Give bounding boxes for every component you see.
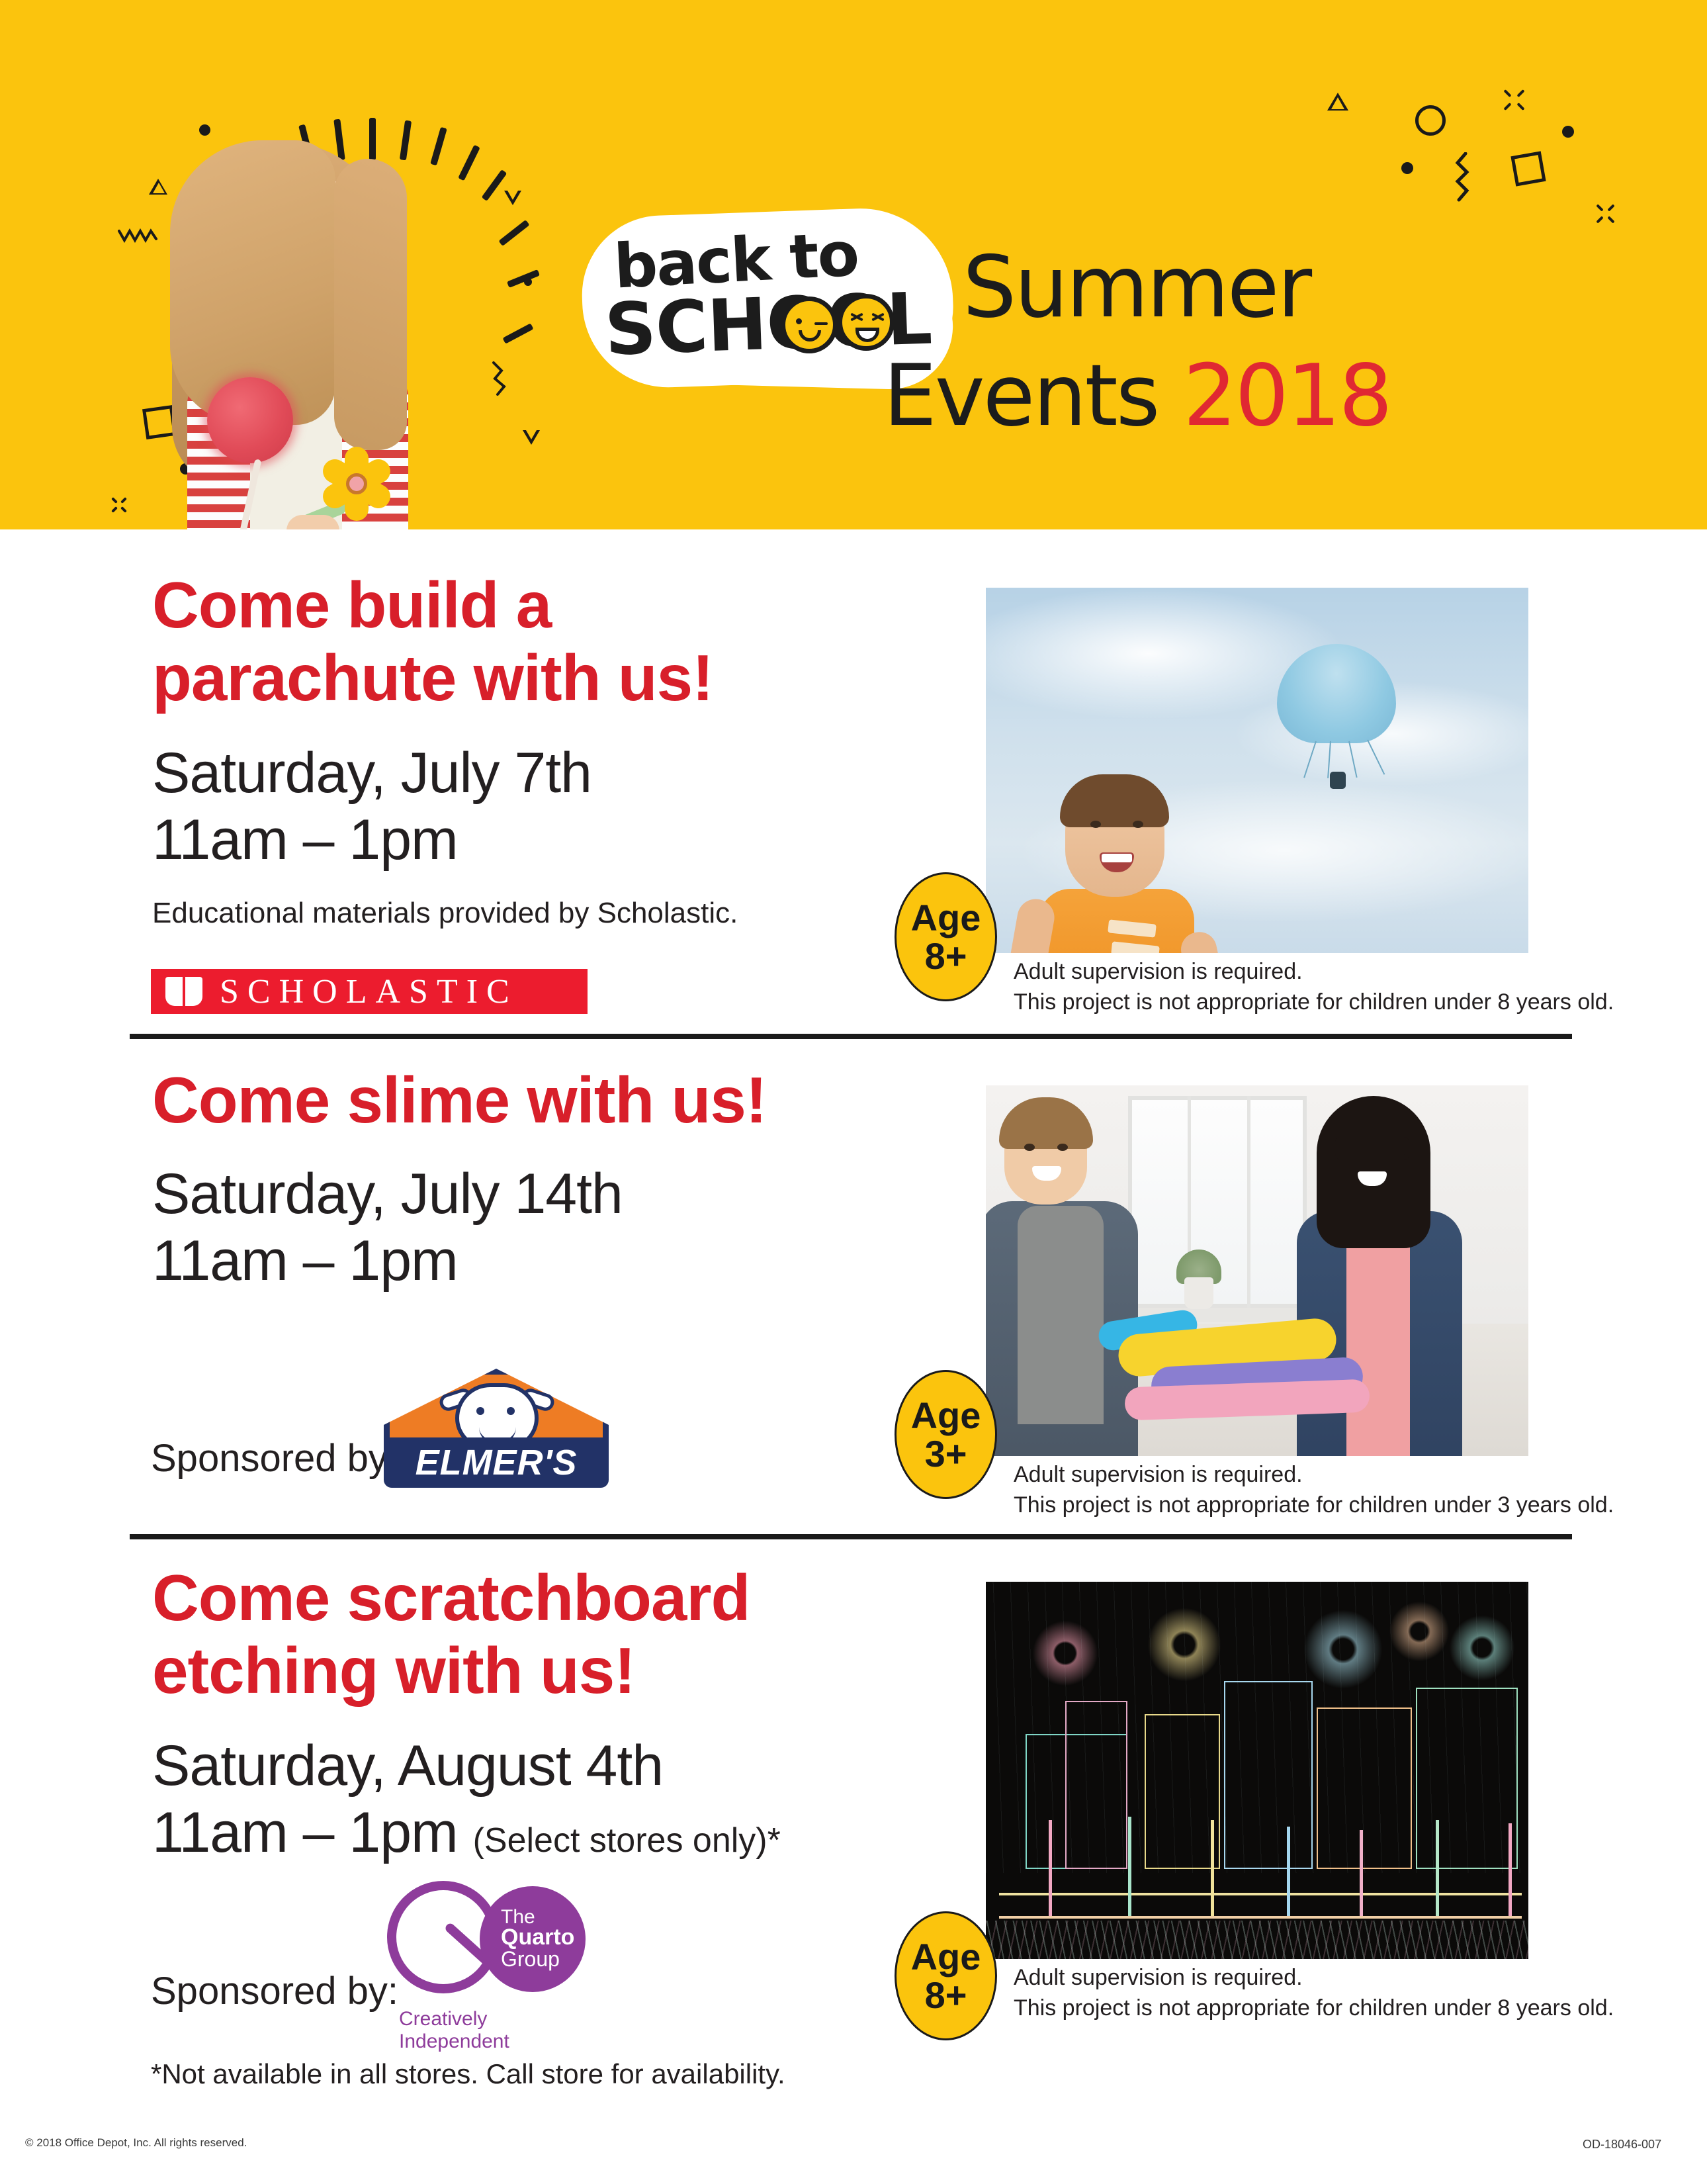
water-scratch	[986, 1921, 1528, 1959]
event-disclaimer: Adult supervision is required. This proj…	[1014, 1460, 1614, 1520]
elmers-wordmark: ELMER'S	[416, 1442, 578, 1483]
square-doodle-icon	[1510, 151, 1546, 186]
girl-with-pom-pom-pen-photo	[136, 93, 453, 529]
quarto-text-group: Group	[501, 1947, 560, 1972]
triangle-doodle-icon	[1331, 97, 1344, 109]
event-time: 11am – 1pm	[152, 1228, 767, 1295]
copyright-text: © 2018 Office Depot, Inc. All rights res…	[25, 2136, 247, 2150]
header-title-line-1: Summer	[963, 245, 1310, 332]
age-label: Age	[911, 899, 981, 936]
header-title-events: Events	[883, 347, 1158, 445]
section-divider	[130, 1034, 1572, 1039]
event-photo	[986, 1085, 1528, 1456]
sponsored-by-label: Sponsored by:	[151, 1436, 398, 1480]
laughing-emoji-icon	[838, 294, 895, 351]
colorful-slime	[1098, 1304, 1376, 1430]
age-badge: Age 3+	[895, 1370, 997, 1499]
sponsored-by-label: Sponsored by:	[151, 1969, 398, 2013]
ray-doodle-icon	[507, 269, 540, 288]
poster-page: back to SCHOOL Summer Events 2018 Co	[0, 0, 1707, 2184]
event-time: 11am – 1pm	[152, 807, 738, 874]
eyeglasses-icon	[1335, 1137, 1409, 1160]
event-photo	[986, 588, 1528, 953]
availability-note: *Not available in all stores. Call store…	[151, 2058, 785, 2090]
quarto-tagline: Creatively Independent	[399, 2008, 599, 2053]
event-date: Saturday, July 7th	[152, 740, 738, 807]
ray-doodle-icon	[482, 169, 507, 201]
sparkle-doodle-icon	[1503, 90, 1526, 113]
age-label: Age	[911, 1938, 981, 1976]
pom-pom-pen	[207, 377, 293, 463]
event-title: Come scratchboard etching with us!	[152, 1562, 781, 1707]
event-disclaimer: Adult supervision is required. This proj…	[1014, 957, 1614, 1017]
header-year: 2018	[1183, 347, 1391, 445]
event-date: Saturday, August 4th	[152, 1733, 781, 1799]
quarto-group-logo: The Quarto Group Creatively Independent	[387, 1881, 599, 2040]
event-note: Educational materials provided by Schola…	[152, 896, 738, 931]
dot-doodle-icon	[524, 278, 532, 286]
scholastic-wordmark: SCHOLASTIC	[220, 972, 518, 1011]
event-title: Come build a parachute with us!	[152, 569, 738, 715]
ray-doodle-icon	[458, 145, 480, 181]
flower-pen-topper	[320, 447, 394, 521]
ray-doodle-icon	[498, 220, 529, 246]
open-book-icon	[165, 977, 205, 1006]
age-value: 8+	[925, 1976, 967, 2014]
bridge-scratch	[999, 1916, 1522, 1919]
boy-vest	[1018, 1206, 1104, 1424]
age-badge: Age 8+	[895, 1911, 997, 2040]
sparkle-doodle-icon	[1596, 205, 1616, 225]
zigzag-doodle-icon	[491, 359, 531, 397]
triangle-doodle-icon	[507, 191, 518, 200]
age-value: 8+	[925, 937, 967, 975]
event-date: Saturday, July 14th	[152, 1161, 767, 1228]
elmers-logo: ELMER'S	[377, 1363, 615, 1489]
poster-header: back to SCHOOL Summer Events 2018	[0, 0, 1707, 529]
dot-doodle-icon	[1401, 162, 1413, 174]
bridge-scratch	[999, 1893, 1522, 1895]
scholastic-logo: SCHOLASTIC	[151, 969, 588, 1014]
wink-emoji-icon	[781, 296, 838, 353]
sky-scratch-texture	[986, 1582, 1528, 1873]
hand	[286, 515, 339, 529]
dot-doodle-icon	[1562, 126, 1574, 138]
event-title: Come slime with us!	[152, 1064, 767, 1137]
event-time: 11am – 1pm (Select stores only)*	[152, 1799, 781, 1866]
event-time-suffix: (Select stores only)*	[473, 1821, 781, 1860]
event-time-value: 11am – 1pm	[152, 1801, 458, 1864]
sparkle-doodle-icon	[111, 498, 128, 515]
event-disclaimer: Adult supervision is required. This proj…	[1014, 1963, 1614, 2023]
section-divider	[130, 1534, 1572, 1539]
zigzag-doodle-icon	[1452, 152, 1476, 205]
age-badge: Age 8+	[895, 872, 997, 1001]
header-title-line-2: Events 2018	[883, 354, 1391, 439]
parachute-payload	[1330, 772, 1346, 789]
ray-doodle-icon	[502, 323, 533, 343]
hair-right	[334, 159, 407, 450]
job-code: OD-18046-007	[1583, 2138, 1661, 2152]
age-value: 3+	[925, 1435, 967, 1473]
elmers-name-band: ELMER'S	[384, 1437, 609, 1488]
triangle-doodle-icon	[526, 430, 537, 439]
age-label: Age	[911, 1396, 981, 1434]
circle-doodle-icon	[1415, 105, 1446, 136]
event-photo	[986, 1582, 1528, 1959]
